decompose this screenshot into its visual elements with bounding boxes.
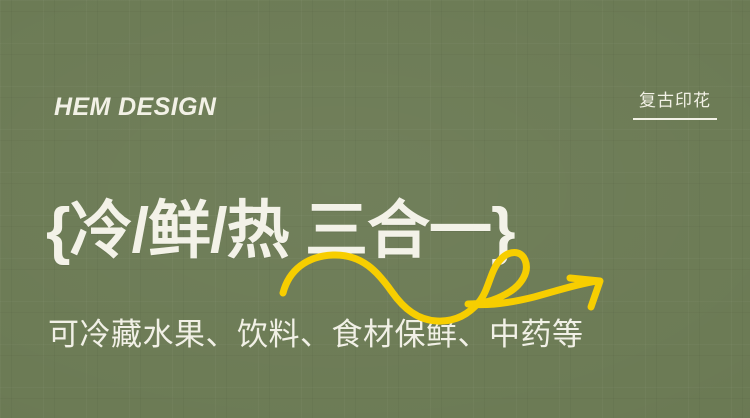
page-title: {冷/鲜/热 三合一} xyxy=(46,192,515,270)
category-tag-label: 复古印花 xyxy=(633,90,717,112)
category-tag: 复古印花 xyxy=(633,90,717,120)
promo-banner: HEM DESIGN 复古印花 {冷/鲜/热 三合一} 可冷藏水果、饮料、食材保… xyxy=(0,0,750,418)
category-tag-underline xyxy=(633,118,717,120)
subtitle-text: 可冷藏水果、饮料、食材保鲜、中药等 xyxy=(48,315,584,355)
brand-logo: HEM DESIGN xyxy=(54,92,216,122)
